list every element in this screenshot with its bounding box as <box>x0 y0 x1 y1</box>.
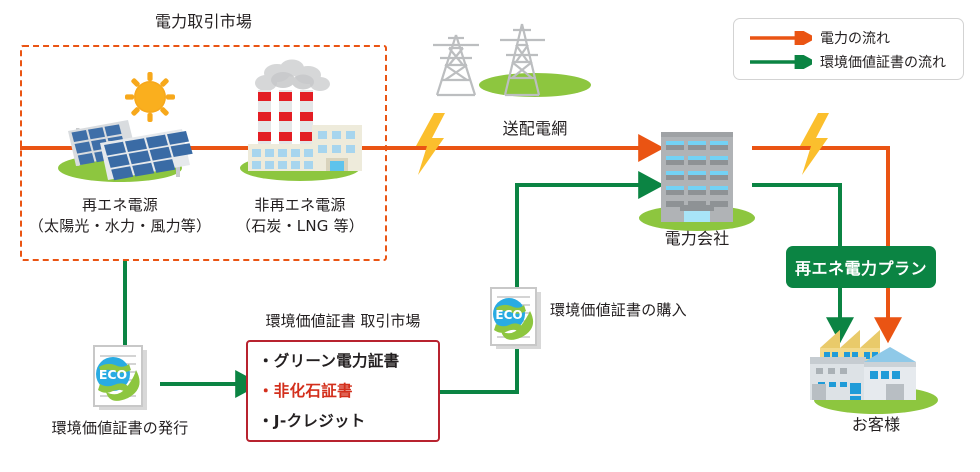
legend-entry-certificate: 環境価値証書の流れ <box>748 52 946 72</box>
legend-arrow-power-icon <box>748 31 812 45</box>
legend-label-power: 電力の流れ <box>820 28 890 48</box>
factory-icon <box>810 330 938 414</box>
legend-arrow-certificate-icon <box>748 55 812 69</box>
transmission-tower-icon <box>433 24 591 97</box>
certificate-market-list: ・グリーン電力証書 ・非化石証書 ・J-クレジット <box>258 346 438 436</box>
solar-panel-icon <box>58 72 193 182</box>
certificate-item-jcredit: ・J-クレジット <box>258 406 438 436</box>
eco-label-issue: ECO <box>99 367 127 382</box>
lightning-bolt-icon <box>416 113 445 175</box>
legend-label-certificate: 環境価値証書の流れ <box>820 52 946 72</box>
thermal-plant-icon <box>240 60 362 182</box>
eco-label-purchase: ECO <box>495 308 522 322</box>
diagram-canvas: 電力取引市場 <box>0 0 980 472</box>
certificate-item-nonfossil: ・非化石証書 <box>258 376 438 406</box>
eco-certificate-icon-issue: ECO <box>94 346 147 410</box>
renewable-power-plan-button[interactable]: 再エネ電力プラン <box>786 246 936 288</box>
legend-box: 電力の流れ 環境価値証書の流れ <box>733 18 964 80</box>
office-building-icon <box>639 132 755 231</box>
legend-entry-power: 電力の流れ <box>748 28 890 48</box>
renewable-power-plan-label: 再エネ電力プラン <box>795 255 927 279</box>
lightning-bolt-icon-2 <box>800 113 829 175</box>
eco-certificate-icon-purchase: ECO <box>491 288 541 349</box>
certificate-item-green: ・グリーン電力証書 <box>258 346 438 376</box>
